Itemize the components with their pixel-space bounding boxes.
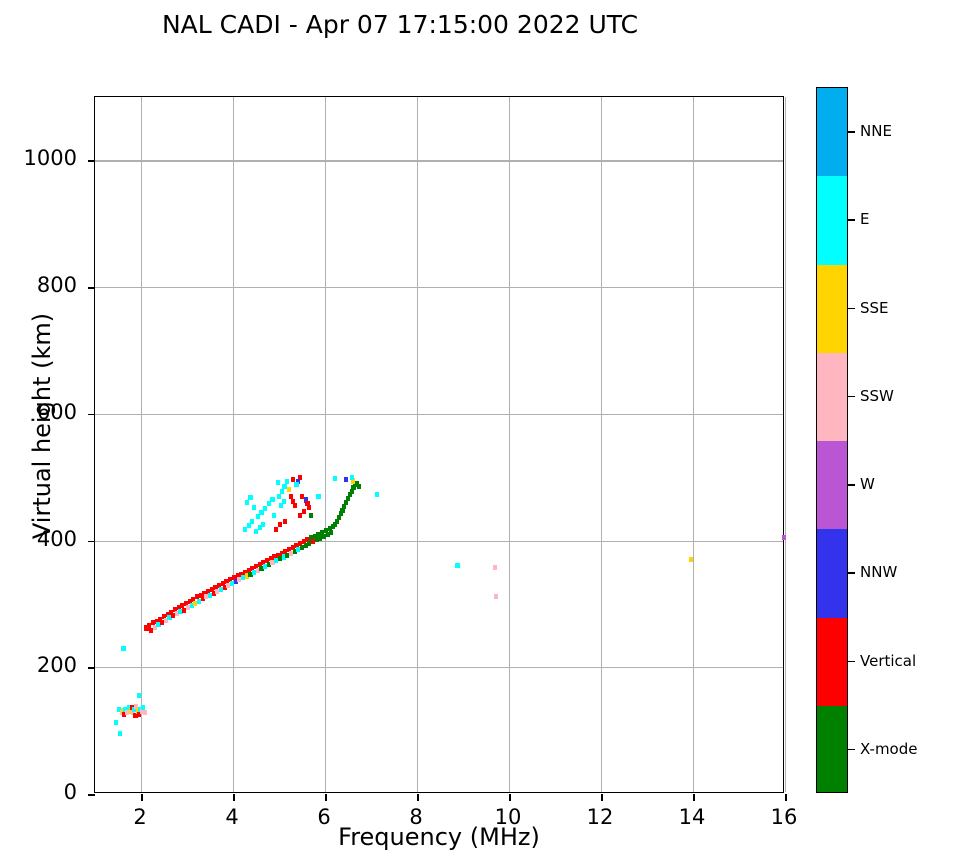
data-point [455,563,459,568]
data-points-layer [95,97,783,792]
y-tick-label: 1000 [0,146,77,170]
data-point [267,501,271,506]
y-tick-label: 200 [0,653,77,677]
data-point [245,500,249,505]
data-point [689,557,693,562]
data-point [114,720,118,725]
x-axis-label: Frequency (MHz) [94,823,784,851]
colorbar-segment-w [817,441,847,529]
data-point [259,510,263,515]
colorbar-tick [848,749,855,751]
data-point [280,489,284,494]
data-point [298,513,302,518]
colorbar-tick-label-e: E [860,210,869,228]
data-point [333,476,337,481]
x-tick [417,794,419,801]
x-tick [141,794,143,801]
colorbar-tick-label-x-mode: X-mode [860,740,917,758]
colorbar-segment-nne [817,88,847,176]
colorbar-segment-nnw [817,529,847,617]
data-point [143,710,147,715]
data-point [293,503,297,508]
y-tick [88,794,95,796]
x-tick [693,794,695,801]
data-point [291,477,295,482]
data-point [375,492,379,497]
x-tick [325,794,327,801]
colorbar-segment-vertical [817,618,847,706]
data-point [344,477,348,482]
data-point [118,731,122,736]
data-point [494,594,498,599]
colorbar: NNEESSESSWWNNWVerticalX-mode [816,87,848,793]
x-tick [785,794,787,801]
colorbar-segment-x-mode [817,706,847,793]
data-point [137,693,141,698]
y-axis-label: Virtual height (km) [28,276,56,576]
colorbar-tick [848,219,855,221]
colorbar-tick [848,572,855,574]
colorbar-tick [848,661,855,663]
data-point [252,505,256,510]
data-point [276,480,280,485]
colorbar-tick-label-sse: SSE [860,299,889,317]
x-tick [509,794,511,801]
y-tick [88,414,95,416]
colorbar-tick-label-nnw: NNW [860,563,897,581]
data-point [279,503,283,508]
data-point [274,527,278,532]
colorbar-segment-e [817,176,847,264]
colorbar-tick [848,131,855,133]
colorbar-tick-label-ssw: SSW [860,387,894,405]
y-tick [88,160,95,162]
gridline-vertical [785,97,786,792]
colorbar-tick [848,308,855,310]
colorbar-segment-ssw [817,353,847,441]
data-point [256,514,260,519]
data-point [141,705,145,710]
data-point [287,487,291,492]
data-point [283,519,287,524]
data-point [350,475,354,480]
plot-area [94,96,784,793]
colorbar-gradient [816,87,848,793]
data-point [316,494,320,499]
data-point [243,527,247,532]
colorbar-tick [848,484,855,486]
colorbar-tick-label-nne: NNE [860,122,892,140]
data-point [357,484,361,489]
data-point [278,522,282,527]
x-tick [233,794,235,801]
data-point [285,479,289,484]
y-tick-label: 0 [0,780,77,804]
y-tick [88,541,95,543]
data-point [782,535,786,540]
data-point [121,646,125,651]
colorbar-tick [848,396,855,398]
colorbar-segment-sse [817,265,847,353]
data-point [302,509,306,514]
x-tick [601,794,603,801]
y-tick [88,667,95,669]
data-point [248,495,252,500]
data-point [493,565,497,570]
data-point [282,484,286,489]
data-point [250,519,254,524]
data-point [270,497,274,502]
data-point [294,482,298,487]
colorbar-tick-label-vertical: Vertical [860,652,916,670]
data-point [277,494,281,499]
y-tick [88,287,95,289]
data-point [309,513,313,518]
data-point [247,523,251,528]
data-point [261,522,265,527]
data-point [263,506,267,511]
data-point [307,505,311,510]
colorbar-tick-label-w: W [860,475,875,493]
data-point [329,530,333,535]
ionogram-figure: NAL CADI - Apr 07 17:15:00 2022 UTC 2468… [0,0,958,857]
page-title: NAL CADI - Apr 07 17:15:00 2022 UTC [0,10,800,39]
data-point [272,513,276,518]
